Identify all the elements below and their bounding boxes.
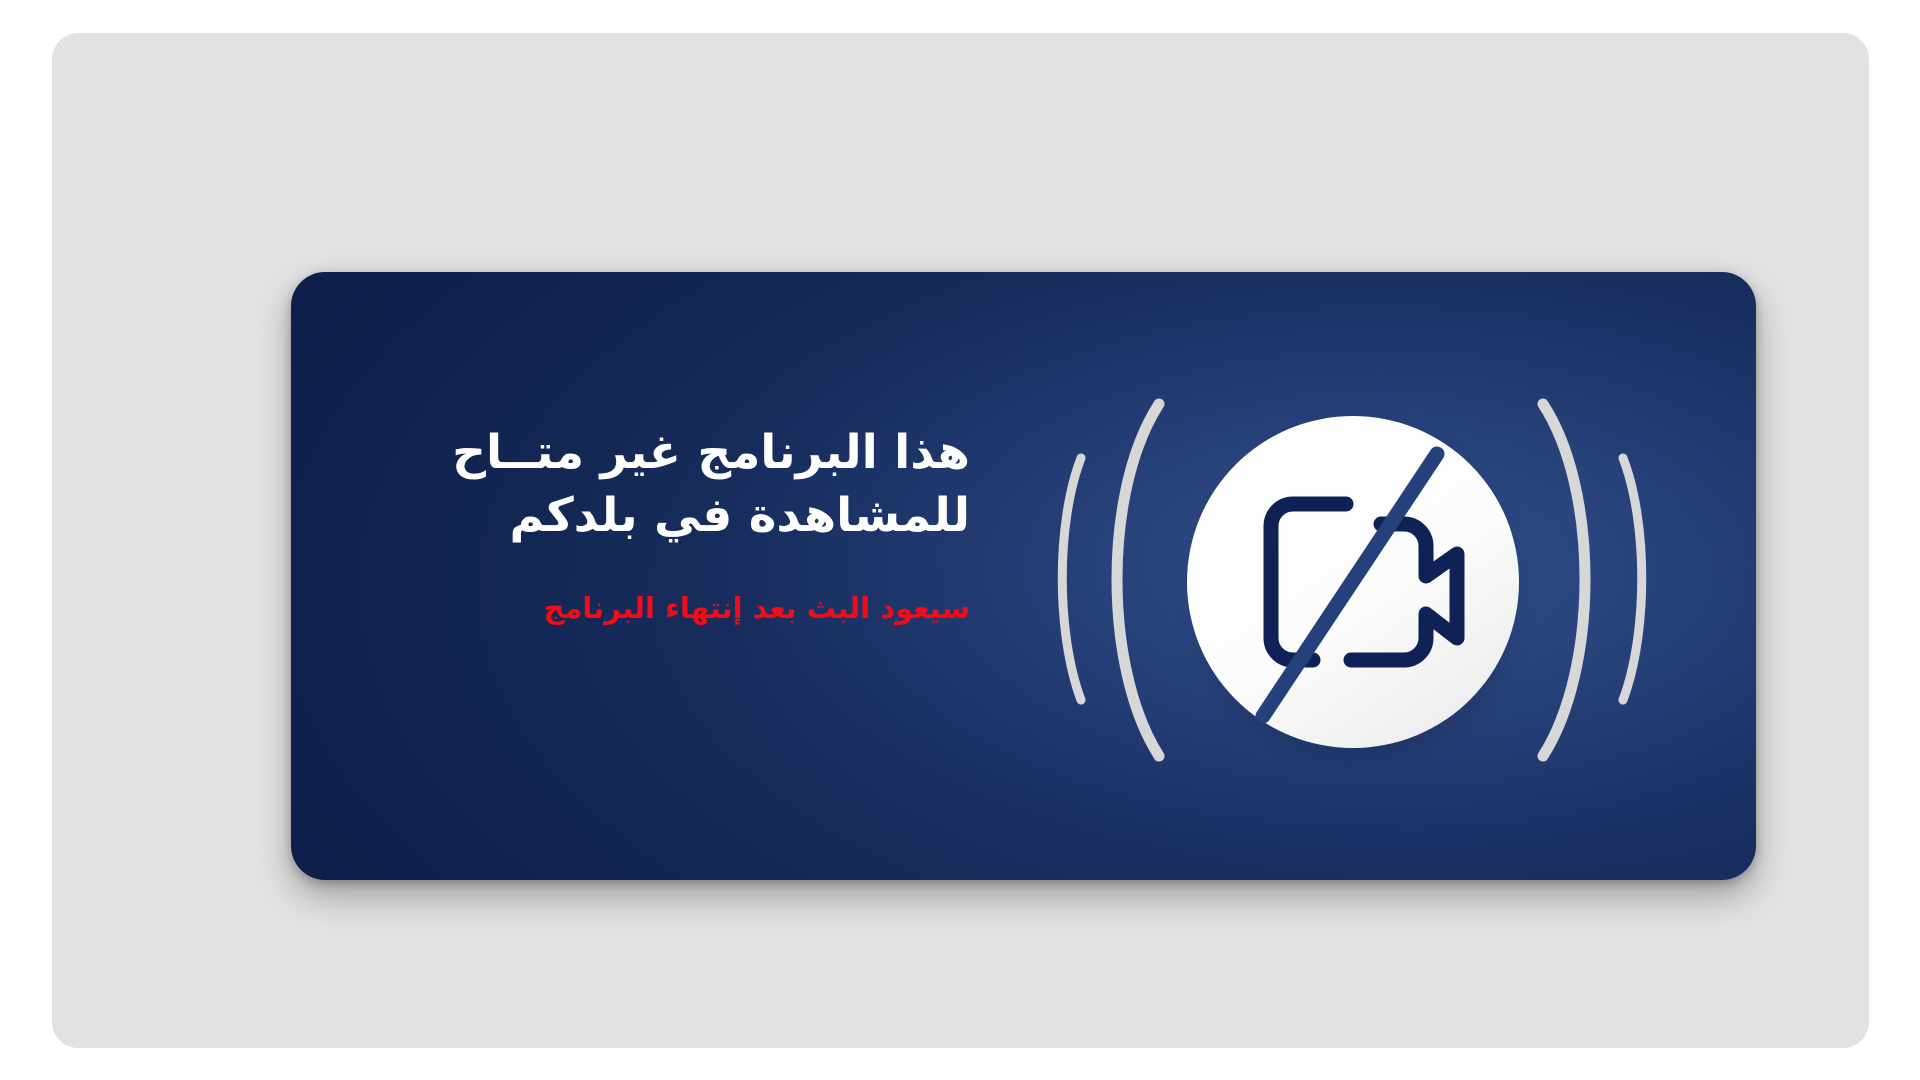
message-text-block: هذا البرنامج غير متــاح للمشاهدة في بلدك… [390, 422, 970, 629]
subline-text: سيعود البث بعد إنتهاء البرنامج [390, 588, 970, 629]
wave-arc-right-inner [1543, 404, 1585, 756]
wave-arc-left-inner [1117, 404, 1159, 756]
outer-panel: هذا البرنامج غير متــاح للمشاهدة في بلدك… [52, 33, 1869, 1048]
no-broadcast-icon-assembly [1051, 308, 1671, 848]
wave-arc-left-outer [1062, 458, 1081, 700]
wave-arc-right-outer [1623, 458, 1642, 700]
broadcast-unavailable-card: هذا البرنامج غير متــاح للمشاهدة في بلدك… [291, 272, 1756, 880]
headline-text: هذا البرنامج غير متــاح للمشاهدة في بلدك… [390, 422, 970, 548]
